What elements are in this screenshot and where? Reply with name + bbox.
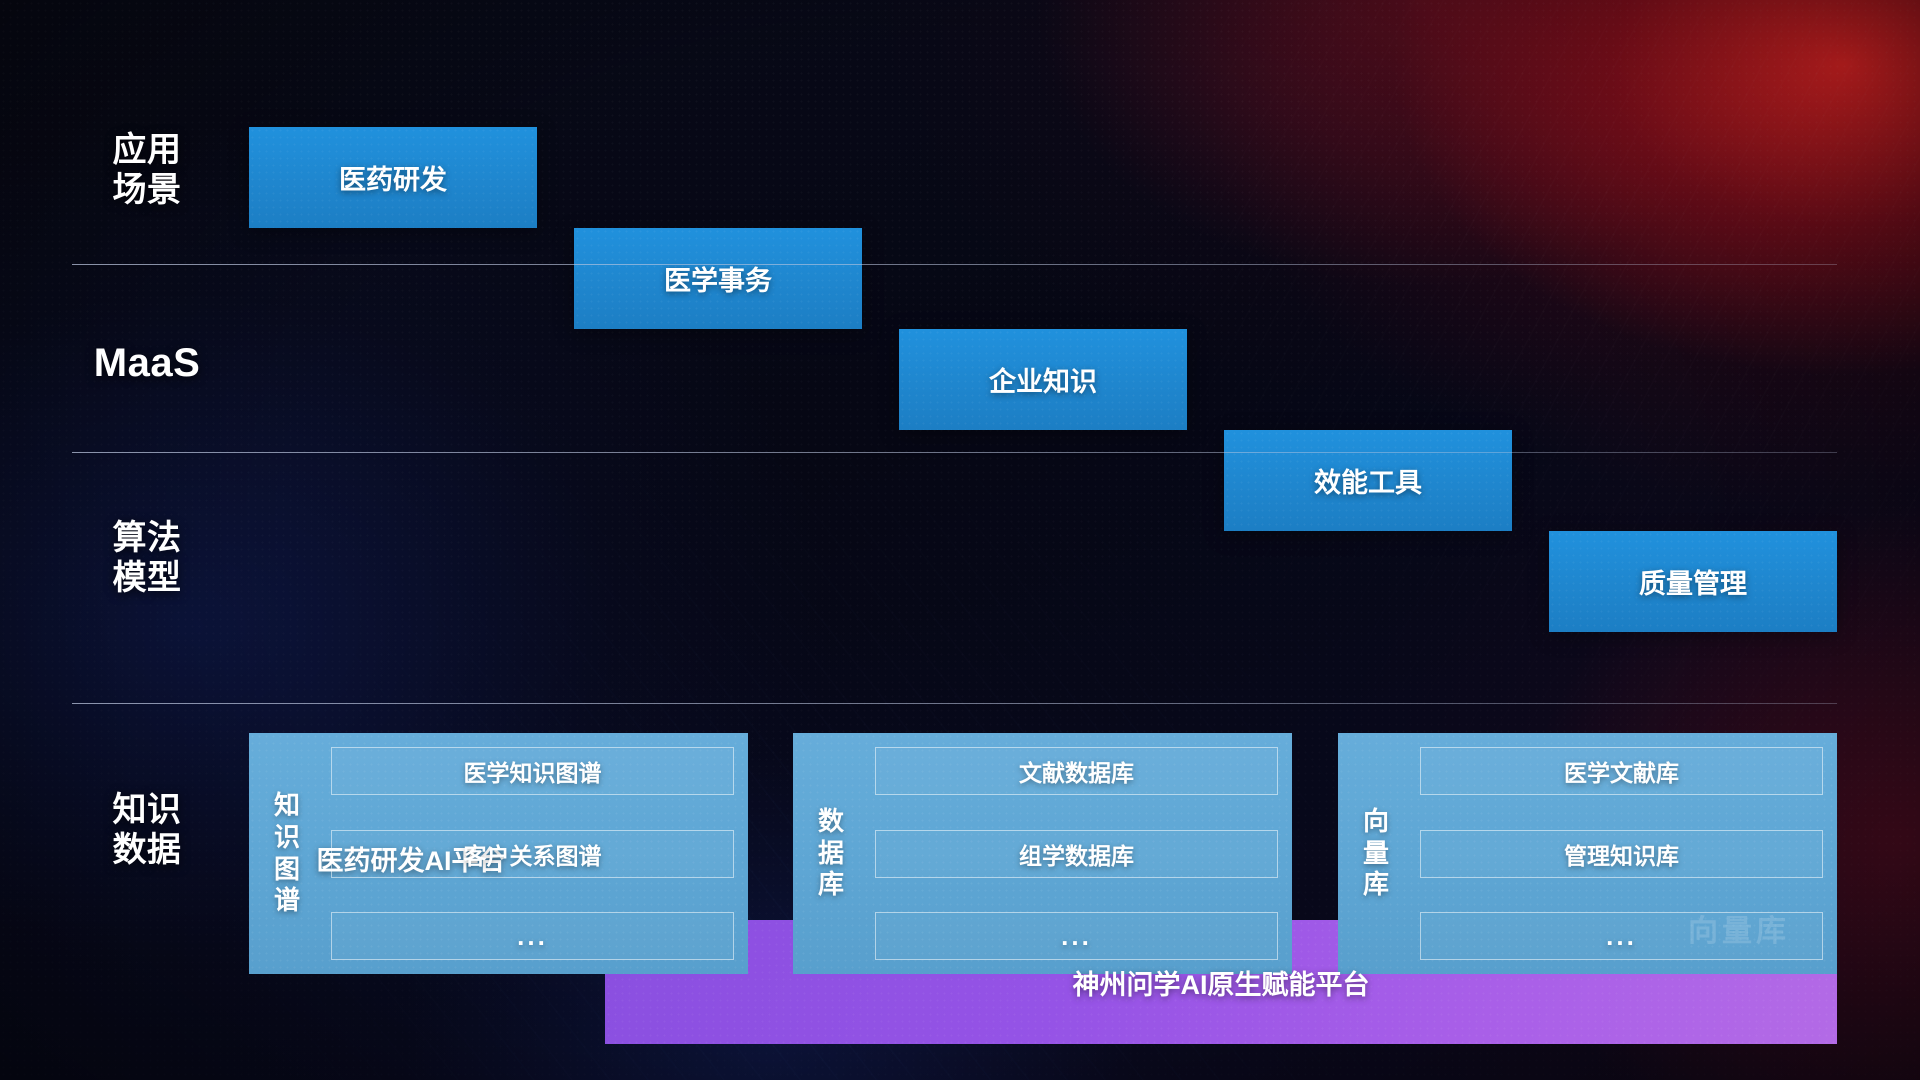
knowledge-panel-title-char-4: 谱 bbox=[274, 885, 300, 917]
slide-canvas: 应用 场景 医药研发 医学事务 企业知识 效能工具 质量管理 MaaS 医药研发… bbox=[0, 0, 1920, 1080]
knowledge-panel-title-char-2: 识 bbox=[274, 822, 300, 854]
divider-after-maas bbox=[72, 452, 1837, 453]
knowledge-panel-title-char-2: 据 bbox=[818, 838, 844, 870]
app-scenario-card-5[interactable]: 质量管理 bbox=[1549, 531, 1837, 632]
knowledge-item[interactable]: 管理知识库 bbox=[1420, 830, 1823, 878]
app-scenario-card-3[interactable]: 企业知识 bbox=[899, 329, 1187, 430]
app-scenario-label-4: 效能工具 bbox=[1314, 461, 1422, 500]
knowledge-panel-title-vector-store: 向 量 库 bbox=[1348, 747, 1404, 960]
knowledge-panel-database[interactable]: 数 据 库 文献数据库 组学数据库 ... bbox=[793, 733, 1292, 974]
knowledge-item[interactable]: 医学知识图谱 bbox=[331, 747, 734, 795]
divider-after-application-scenarios bbox=[72, 264, 1837, 265]
knowledge-panel-items-knowledge-graph: 医学知识图谱 客户关系图谱 ... bbox=[331, 747, 734, 960]
knowledge-item-more[interactable]: ... bbox=[875, 912, 1278, 960]
knowledge-panel-title-char-1: 知 bbox=[274, 790, 300, 822]
knowledge-panel-title-char-1: 向 bbox=[1363, 806, 1389, 838]
maas-label-shenzhou-platform: 神州问学AI原生赋能平台 bbox=[1073, 963, 1370, 1002]
knowledge-item[interactable]: 组学数据库 bbox=[875, 830, 1278, 878]
knowledge-panel-title-char-2: 量 bbox=[1363, 838, 1389, 870]
row-label-maas: MaaS bbox=[72, 340, 222, 387]
knowledge-item[interactable]: 文献数据库 bbox=[875, 747, 1278, 795]
knowledge-item[interactable]: 客户关系图谱 bbox=[331, 830, 734, 878]
knowledge-panel-vector-store[interactable]: 向 量 库 医学文献库 管理知识库 ... bbox=[1338, 733, 1837, 974]
app-scenario-card-2[interactable]: 医学事务 bbox=[574, 228, 862, 329]
app-scenario-card-4[interactable]: 效能工具 bbox=[1224, 430, 1512, 531]
app-scenario-label-5: 质量管理 bbox=[1639, 562, 1747, 601]
knowledge-item-more[interactable]: ... bbox=[331, 912, 734, 960]
knowledge-panel-title-knowledge-graph: 知 识 图 谱 bbox=[259, 747, 315, 960]
divider-after-algorithm-models bbox=[72, 703, 1837, 704]
knowledge-panel-title-char-1: 数 bbox=[818, 806, 844, 838]
knowledge-item-more[interactable]: ... bbox=[1420, 912, 1823, 960]
app-scenario-label-1: 医药研发 bbox=[339, 158, 447, 197]
row-label-application-scenarios: 应用 场景 bbox=[72, 130, 222, 210]
row-label-algorithm-models: 算法 模型 bbox=[72, 518, 222, 598]
row-label-knowledge-data: 知识 数据 bbox=[72, 790, 222, 870]
knowledge-item[interactable]: 医学文献库 bbox=[1420, 747, 1823, 795]
app-scenario-label-2: 医学事务 bbox=[664, 259, 772, 298]
knowledge-panel-title-char-3: 库 bbox=[818, 869, 844, 901]
knowledge-panel-items-vector-store: 医学文献库 管理知识库 ... bbox=[1420, 747, 1823, 960]
knowledge-panel-title-char-3: 图 bbox=[274, 854, 300, 886]
knowledge-panel-items-database: 文献数据库 组学数据库 ... bbox=[875, 747, 1278, 960]
knowledge-panel-title-char-3: 库 bbox=[1363, 869, 1389, 901]
app-scenario-label-3: 企业知识 bbox=[989, 360, 1097, 399]
app-scenario-card-1[interactable]: 医药研发 bbox=[249, 127, 537, 228]
knowledge-panel-title-database: 数 据 库 bbox=[803, 747, 859, 960]
